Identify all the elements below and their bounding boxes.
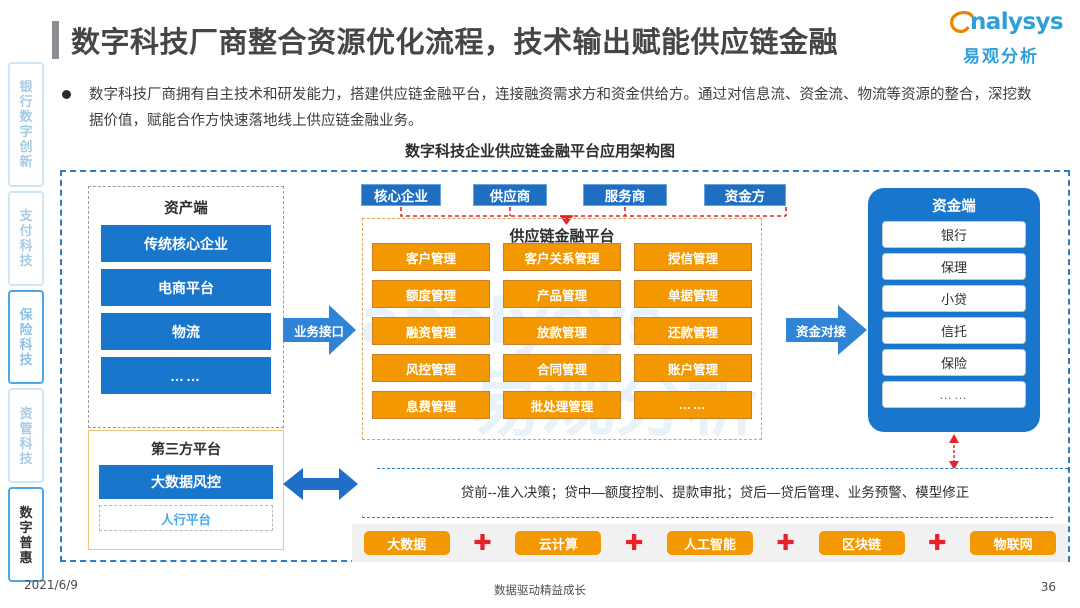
asset-item-ecommerce[interactable]: 电商平台 xyxy=(101,269,271,306)
plus-icon: ✚ xyxy=(928,532,946,554)
asset-item-logistics[interactable]: 物流 xyxy=(101,313,271,350)
tech-chip-cloud[interactable]: 云计算 xyxy=(515,531,601,555)
platform-module[interactable]: 息费管理 xyxy=(372,391,490,419)
business-interface-arrow: 业务接口 xyxy=(283,303,357,357)
platform-module[interactable]: 融资管理 xyxy=(372,317,490,345)
fund-item-trust[interactable]: 信托 xyxy=(882,317,1026,344)
logo-wordmark-row: nalysys xyxy=(940,8,1062,40)
third-party-bigdata-risk[interactable]: 大数据风控 xyxy=(99,465,273,499)
platform-module[interactable]: 额度管理 xyxy=(372,280,490,308)
title-accent-bar xyxy=(52,21,59,59)
asset-side-panel: 资产端 传统核心企业 电商平台 物流 …… xyxy=(88,186,284,428)
slide-canvas: 数字科技厂商整合资源优化流程，技术输出赋能供应链金融 nalysys 易观分析 … xyxy=(0,0,1080,608)
page-title-bar: 数字科技厂商整合资源优化流程，技术输出赋能供应链金融 xyxy=(52,16,932,64)
platform-module[interactable]: 授信管理 xyxy=(634,243,752,271)
asset-item-core-enterprise[interactable]: 传统核心企业 xyxy=(101,225,271,262)
tech-chip-bigdata[interactable]: 大数据 xyxy=(364,531,450,555)
platform-module[interactable]: 合同管理 xyxy=(503,354,621,382)
fund-item-microloan[interactable]: 小贷 xyxy=(882,285,1026,312)
summary-text: 数字科技厂商拥有自主技术和研发能力，搭建供应链金融平台，连接融资需求方和资金供给… xyxy=(89,82,1044,134)
fund-docking-arrow: 资金对接 xyxy=(786,303,868,357)
platform-module[interactable]: 风控管理 xyxy=(372,354,490,382)
summary-bullet: 数字科技厂商拥有自主技术和研发能力，搭建供应链金融平台，连接融资需求方和资金供给… xyxy=(62,82,1062,134)
plus-icon: ✚ xyxy=(625,532,643,554)
loan-lifecycle-panel: 贷前--准入决策；贷中—额度控制、提款审批；贷后—贷后管理、业务预警、模型修正 xyxy=(362,468,1068,518)
third-party-pboc-platform[interactable]: 人行平台 xyxy=(99,505,273,531)
third-party-panel: 第三方平台 大数据风控 人行平台 xyxy=(88,430,284,550)
platform-module[interactable]: 客户管理 xyxy=(372,243,490,271)
platform-module[interactable]: 还款管理 xyxy=(634,317,752,345)
sidebar-item-label: 资管科技 xyxy=(19,406,32,466)
platform-module[interactable]: 单据管理 xyxy=(634,280,752,308)
plus-icon: ✚ xyxy=(473,532,491,554)
asset-side-title: 资产端 xyxy=(89,197,283,218)
platform-module[interactable]: 放款管理 xyxy=(503,317,621,345)
platform-module[interactable]: 产品管理 xyxy=(503,280,621,308)
fund-item-more[interactable]: …… xyxy=(882,381,1026,408)
logo-wordmark: nalysys xyxy=(970,9,1063,35)
footer-page-number: 36 xyxy=(1041,580,1056,594)
fund-item-factoring[interactable]: 保理 xyxy=(882,253,1026,280)
footer-slogan: 数据驱动精益成长 xyxy=(0,582,1080,598)
sidebar-item-bank[interactable]: 银行数字创新 xyxy=(8,62,44,187)
logo-chinese-name: 易观分析 xyxy=(940,42,1062,67)
role-chip-service-provider[interactable]: 服务商 xyxy=(583,184,667,206)
tech-chip-blockchain[interactable]: 区块链 xyxy=(819,531,905,555)
fund-item-bank[interactable]: 银行 xyxy=(882,221,1026,248)
loan-lifecycle-text: 贷前--准入决策；贷中—额度控制、提款审批；贷后—贷后管理、业务预警、模型修正 xyxy=(395,482,1035,504)
sidebar-item-payment[interactable]: 支付科技 xyxy=(8,191,44,286)
role-chip-core-enterprise[interactable]: 核心企业 xyxy=(361,184,441,206)
fund-side-panel: 资金端 银行 保理 小贷 信托 保险 …… xyxy=(868,188,1040,432)
platform-module[interactable]: 批处理管理 xyxy=(503,391,621,419)
platform-module-grid: 客户管理 客户关系管理 授信管理 额度管理 产品管理 单据管理 融资管理 放款管… xyxy=(372,243,752,419)
sidebar-item-asset-mgmt[interactable]: 资管科技 xyxy=(8,388,44,483)
business-interface-label: 业务接口 xyxy=(294,321,344,340)
fund-item-insurance[interactable]: 保险 xyxy=(882,349,1026,376)
tech-stack-strip: 大数据 ✚ 云计算 ✚ 人工智能 ✚ 区块链 ✚ 物联网 xyxy=(352,524,1068,562)
role-chip-supplier[interactable]: 供应商 xyxy=(473,184,547,206)
bullet-dot-icon xyxy=(62,90,71,99)
sidebar-item-insurance[interactable]: 保险科技 xyxy=(8,290,44,385)
platform-module[interactable]: 客户关系管理 xyxy=(503,243,621,271)
sidebar-item-label: 保险科技 xyxy=(19,307,32,367)
role-chip-capital-provider[interactable]: 资金方 xyxy=(704,184,786,206)
platform-module[interactable]: 账户管理 xyxy=(634,354,752,382)
sidebar-item-label: 数字普惠 xyxy=(19,505,32,565)
sidebar-item-label: 支付科技 xyxy=(19,208,32,268)
platform-module-more[interactable]: …… xyxy=(634,391,752,419)
tech-chip-iot[interactable]: 物联网 xyxy=(970,531,1056,555)
third-party-title: 第三方平台 xyxy=(89,439,283,459)
page-title: 数字科技厂商整合资源优化流程，技术输出赋能供应链金融 xyxy=(71,19,838,61)
asset-item-more[interactable]: …… xyxy=(101,357,271,394)
analysys-logo: nalysys 易观分析 xyxy=(940,8,1062,66)
fund-docking-label: 资金对接 xyxy=(796,321,846,340)
sidebar-item-digital-inclusive[interactable]: 数字普惠 xyxy=(8,487,44,582)
plus-icon: ✚ xyxy=(777,532,795,554)
tech-chip-ai[interactable]: 人工智能 xyxy=(667,531,753,555)
diagram-caption: 数字科技企业供应链金融平台应用架构图 xyxy=(0,140,1080,161)
fund-side-title: 资金端 xyxy=(868,195,1040,216)
